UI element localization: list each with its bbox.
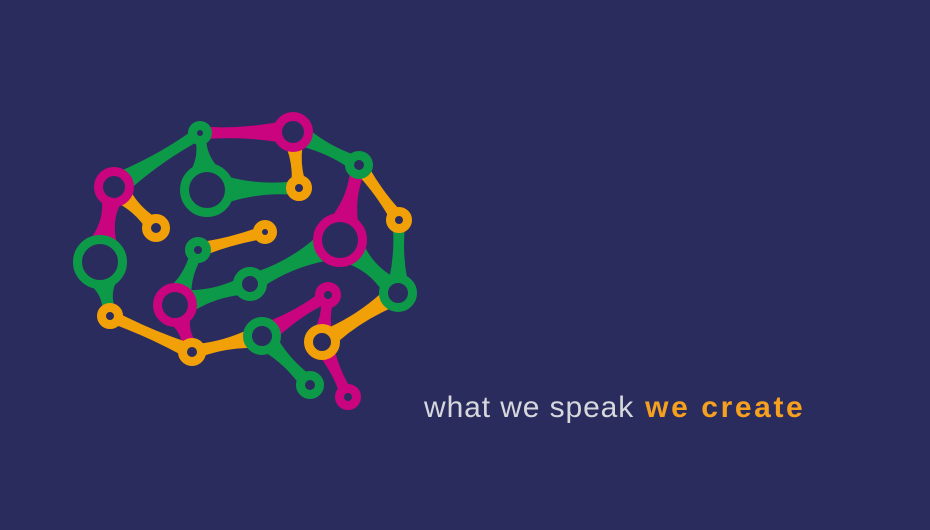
logo-node-ring xyxy=(309,329,336,356)
logo-link xyxy=(204,228,260,254)
logo-node-ring xyxy=(301,376,320,395)
logo-node-ring xyxy=(185,168,230,213)
logo-node-ring xyxy=(350,156,369,175)
tagline-accent-text: we create xyxy=(645,391,805,425)
logo-node-ring xyxy=(190,242,207,259)
logo-node-ring xyxy=(147,219,166,238)
logo-link xyxy=(199,330,250,356)
logo-node-ring xyxy=(291,180,308,197)
logo-node-ring xyxy=(248,322,277,351)
splash-canvas: what we speak we create xyxy=(0,0,930,530)
logo-link xyxy=(229,177,291,202)
logo-node-ring xyxy=(158,288,193,323)
logo-node-ring xyxy=(258,225,273,240)
tagline: what we speak we create xyxy=(424,391,805,427)
logo-node-ring xyxy=(102,308,119,325)
logo-link xyxy=(207,122,278,142)
logo-node-ring xyxy=(183,343,202,362)
logo-node-ring xyxy=(99,172,130,203)
logo-node-ring xyxy=(320,287,337,304)
logo-node-ring xyxy=(238,272,263,297)
logo-node-ring xyxy=(340,389,357,406)
logo-node-ring xyxy=(193,126,208,141)
logo-node-ring xyxy=(318,218,363,263)
brain-network-logo xyxy=(60,100,440,430)
logo-node-ring xyxy=(384,279,413,308)
logo-node-ring xyxy=(278,117,309,148)
logo-link xyxy=(389,228,407,279)
logo-node-ring xyxy=(391,212,408,229)
brain-network-svg xyxy=(60,100,440,430)
tagline-light-text: what we speak xyxy=(424,391,634,425)
logo-node-ring xyxy=(78,240,123,285)
